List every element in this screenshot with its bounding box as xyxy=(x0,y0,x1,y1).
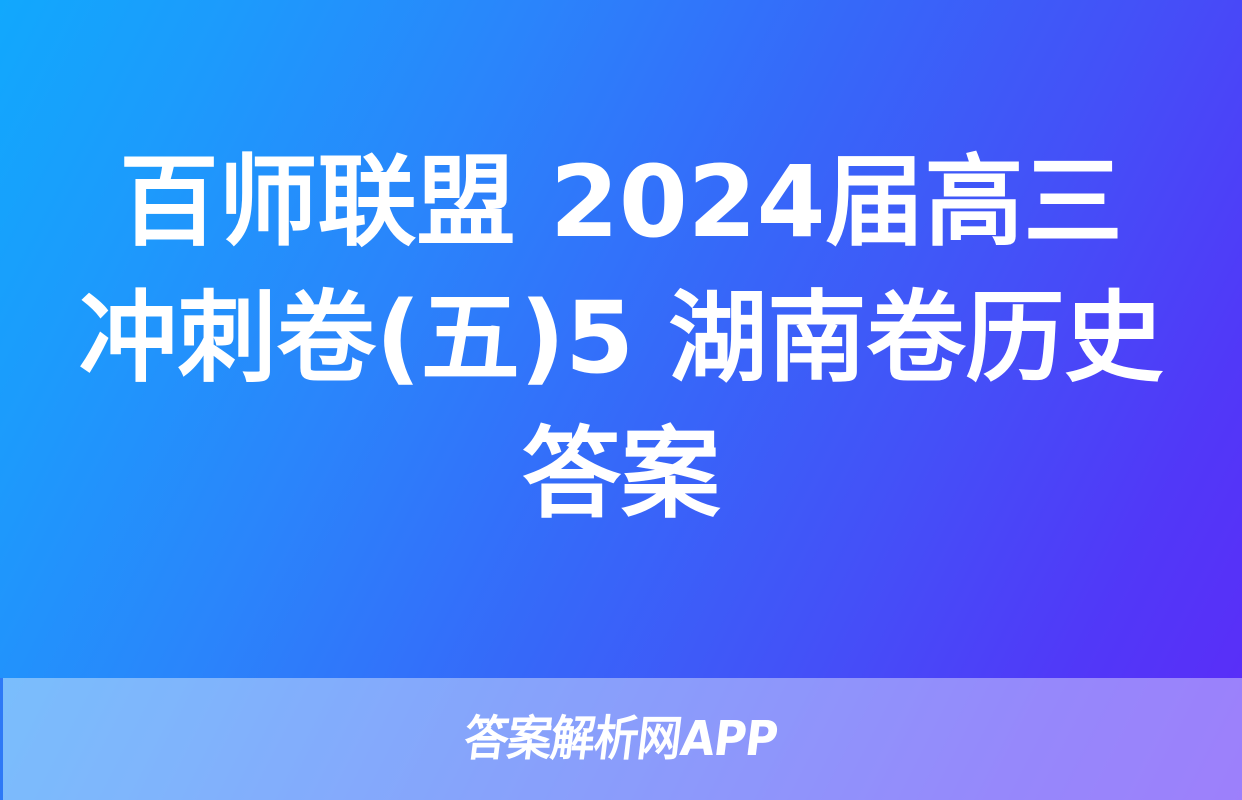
watermark-text: 答案解析网APP xyxy=(462,715,780,763)
poster-canvas: 百师联盟 2024届高三冲刺卷(五)5 湖南卷历史答案 答案解析网APP xyxy=(0,0,1242,800)
left-edge-rail xyxy=(0,678,3,800)
hero-section: 百师联盟 2024届高三冲刺卷(五)5 湖南卷历史答案 xyxy=(0,0,1242,678)
page-title: 百师联盟 2024届高三冲刺卷(五)5 湖南卷历史答案 xyxy=(78,135,1164,543)
watermark-band: 答案解析网APP xyxy=(0,678,1242,800)
